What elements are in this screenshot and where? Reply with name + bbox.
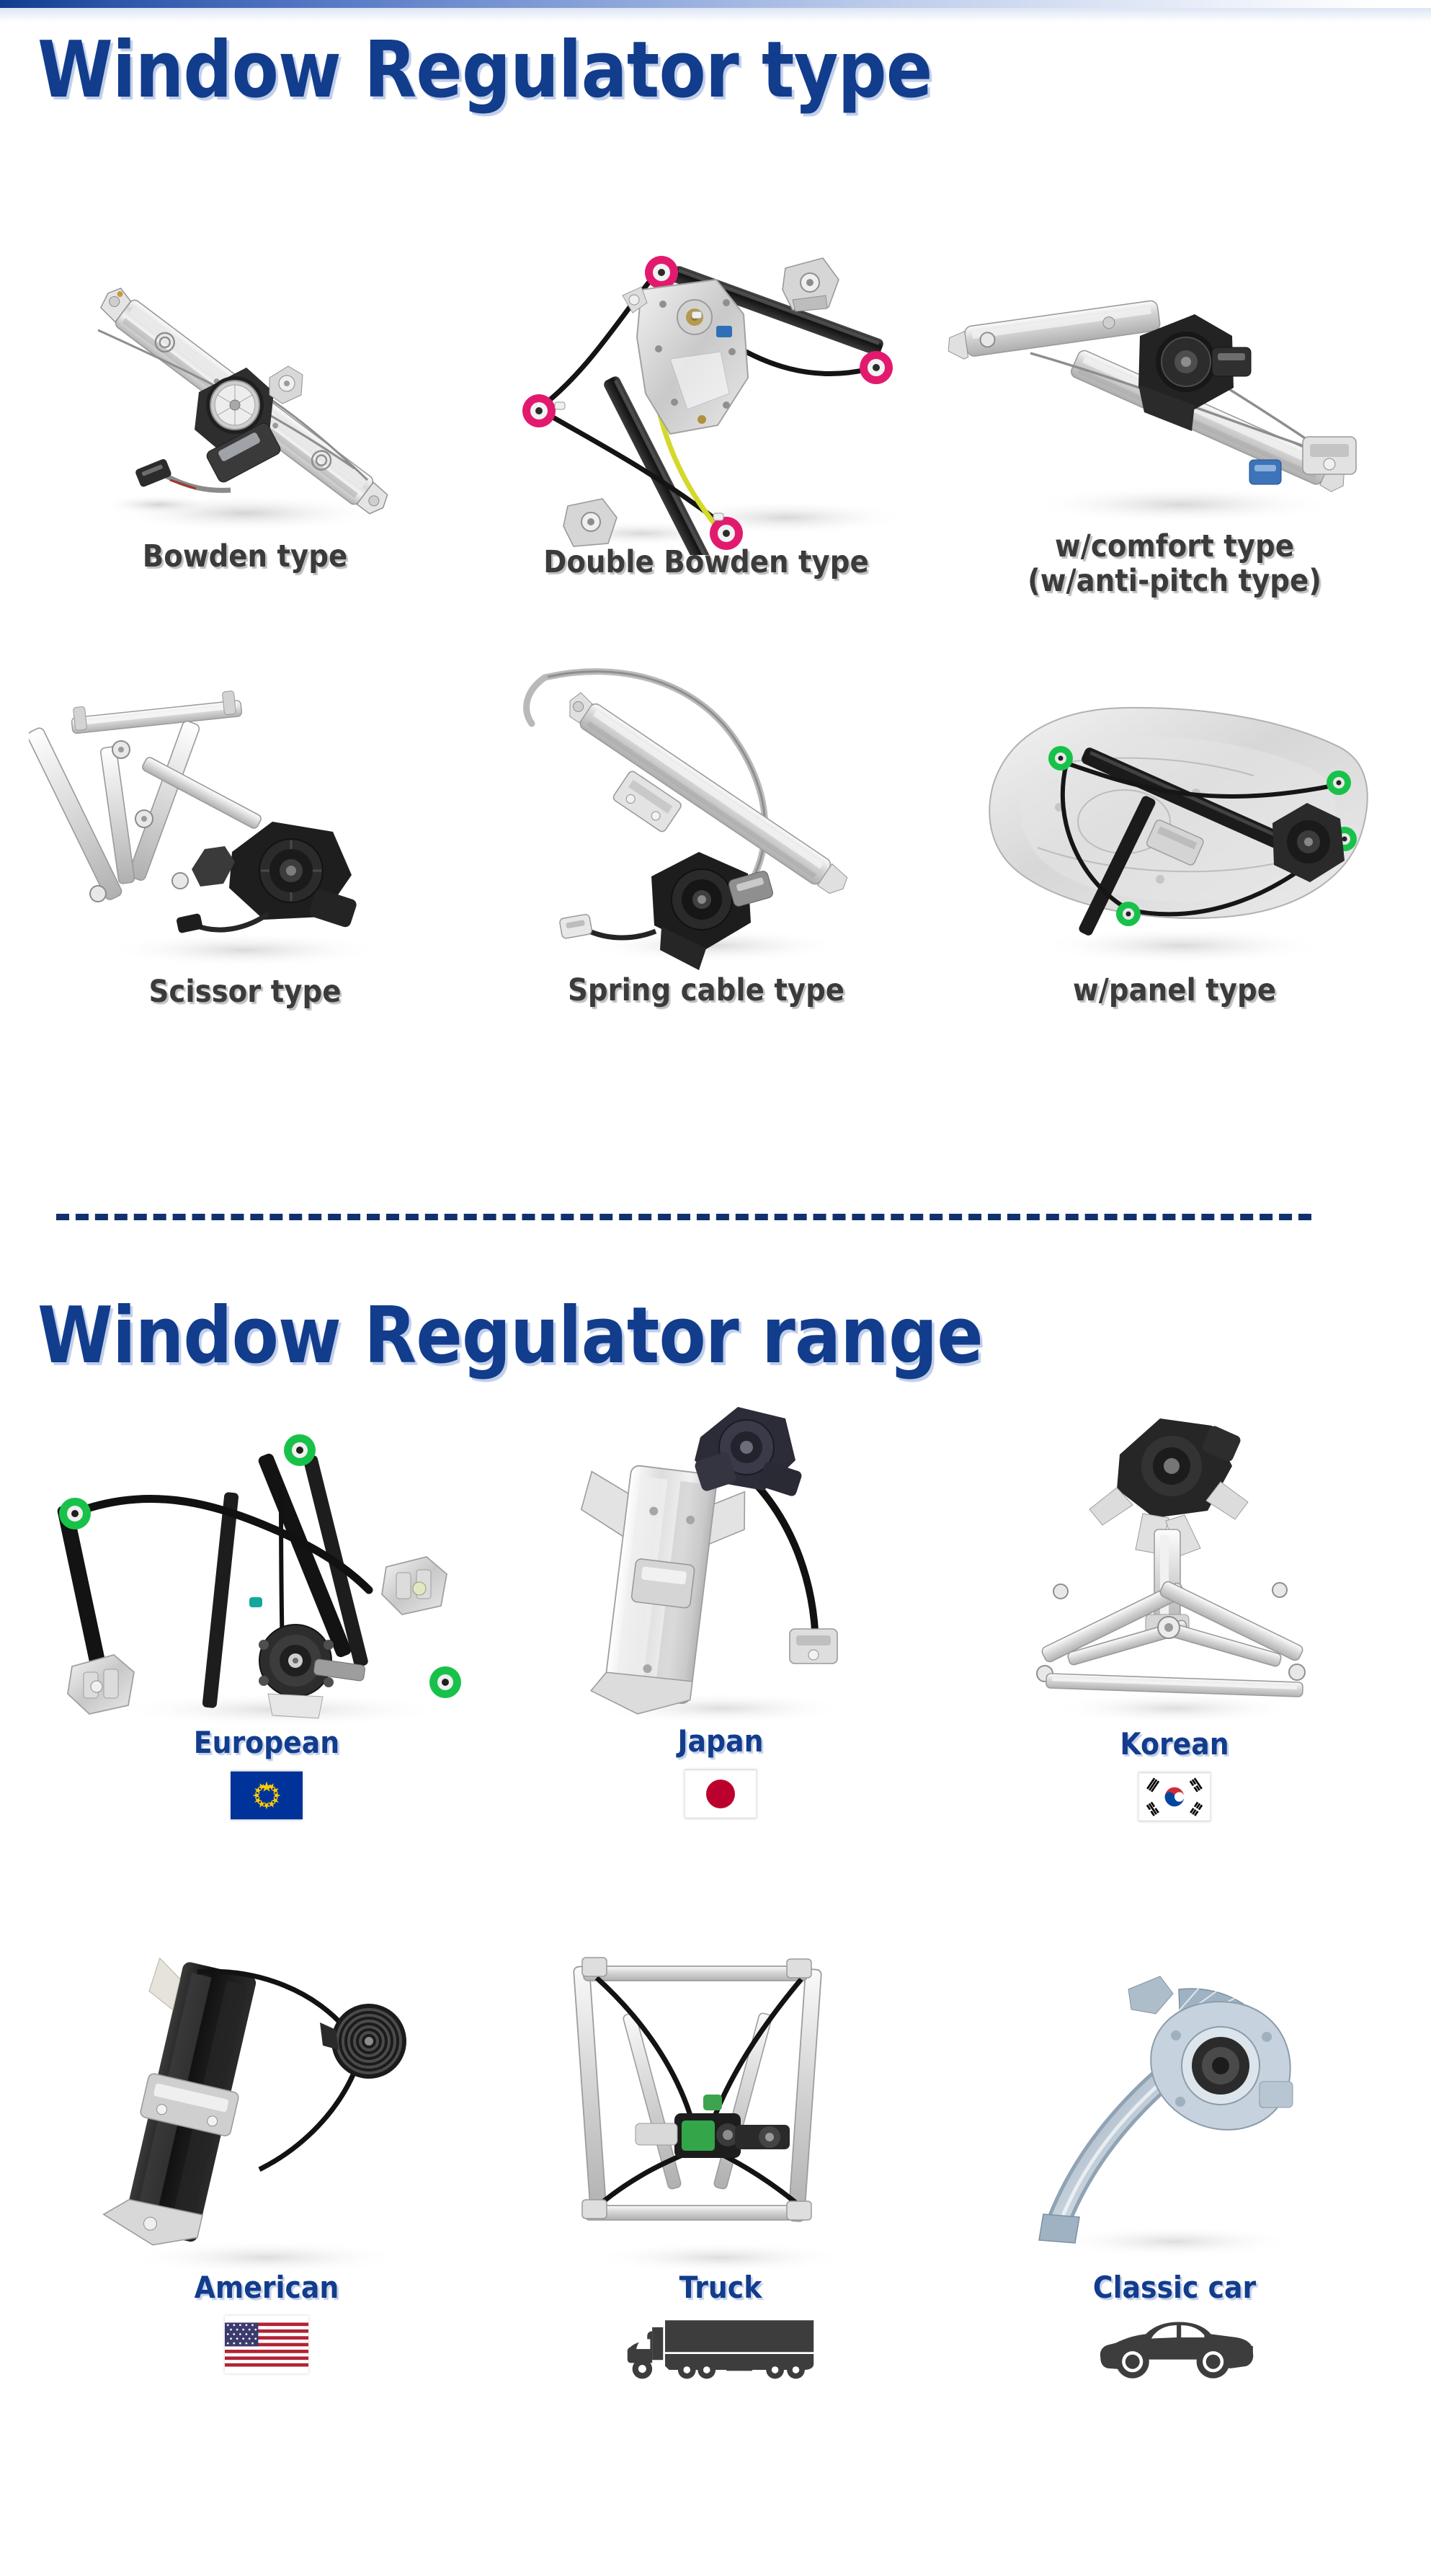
double-bowden-regulator-photo — [476, 231, 937, 555]
classic-car-icon — [1092, 2314, 1257, 2394]
product-card-panel-type: w/panel type — [944, 678, 1405, 1008]
product-card-classic-car: Classic car — [958, 1932, 1391, 2394]
product-label: Scissor type — [50, 974, 440, 1009]
product-card-scissor-type: Scissor type — [29, 678, 461, 1009]
product-label: European — [66, 1726, 468, 1759]
product-card-spring-cable-type: Spring cable type — [476, 649, 937, 1008]
truck-icon — [620, 2314, 821, 2394]
product-card-bowden-type: Bowden type — [29, 259, 461, 574]
product-card-comfort-type: w/comfort type (w/anti-pitch type) — [944, 267, 1405, 598]
product-label: Bowden type — [50, 539, 440, 574]
eu-flag — [231, 1771, 303, 1820]
american-regulator-photo — [43, 1932, 490, 2278]
scissor-regulator-photo — [29, 678, 461, 980]
japan-regulator-photo — [504, 1391, 937, 1730]
top-gradient-bar — [0, 0, 1431, 8]
usa-flag — [225, 2316, 308, 2373]
truck-regulator-photo — [504, 1932, 937, 2278]
panel-regulator-photo — [944, 678, 1405, 980]
spring-cable-regulator-photo — [476, 649, 937, 980]
badge-wrap — [43, 2316, 490, 2373]
product-label: American — [66, 2270, 468, 2304]
product-card-truck: Truck — [504, 1932, 937, 2394]
product-card-double-bowden-type: Double Bowden type — [476, 231, 937, 579]
product-label: w/comfort type (w/anti-pitch type) — [967, 529, 1382, 598]
section-divider — [56, 1214, 1311, 1220]
product-label: Classic car — [980, 2270, 1369, 2304]
product-label: Japan — [526, 1724, 915, 1758]
product-card-european: European — [43, 1413, 490, 1820]
top-gradient-fade — [0, 8, 1431, 22]
korean-regulator-photo — [958, 1398, 1391, 1730]
classic-car-regulator-photo — [958, 1932, 1391, 2278]
badge-wrap — [43, 1771, 490, 1820]
japan-flag — [685, 1769, 757, 1818]
european-regulator-photo — [43, 1413, 490, 1730]
product-label: Truck — [526, 2270, 915, 2304]
product-card-korean: Korean — [958, 1398, 1391, 1821]
product-label: w/panel type — [967, 973, 1382, 1008]
badge-wrap — [504, 1769, 937, 1818]
badge-wrap — [958, 1772, 1391, 1821]
infographic-page: Window Regulator type — [0, 0, 1431, 2576]
korea-flag — [1138, 1772, 1211, 1821]
product-label: Korean — [980, 1727, 1369, 1761]
section-heading-window-regulator-range: Window Regulator range — [37, 1297, 983, 1375]
section-heading-window-regulator-type: Window Regulator type — [37, 32, 932, 110]
product-card-american: American — [43, 1932, 490, 2373]
product-label: Spring cable type — [499, 973, 914, 1008]
product-label: Double Bowden type — [499, 545, 914, 579]
comfort-regulator-photo — [944, 267, 1405, 541]
product-card-japan: Japan — [504, 1391, 937, 1818]
bowden-regulator-photo — [29, 259, 461, 548]
